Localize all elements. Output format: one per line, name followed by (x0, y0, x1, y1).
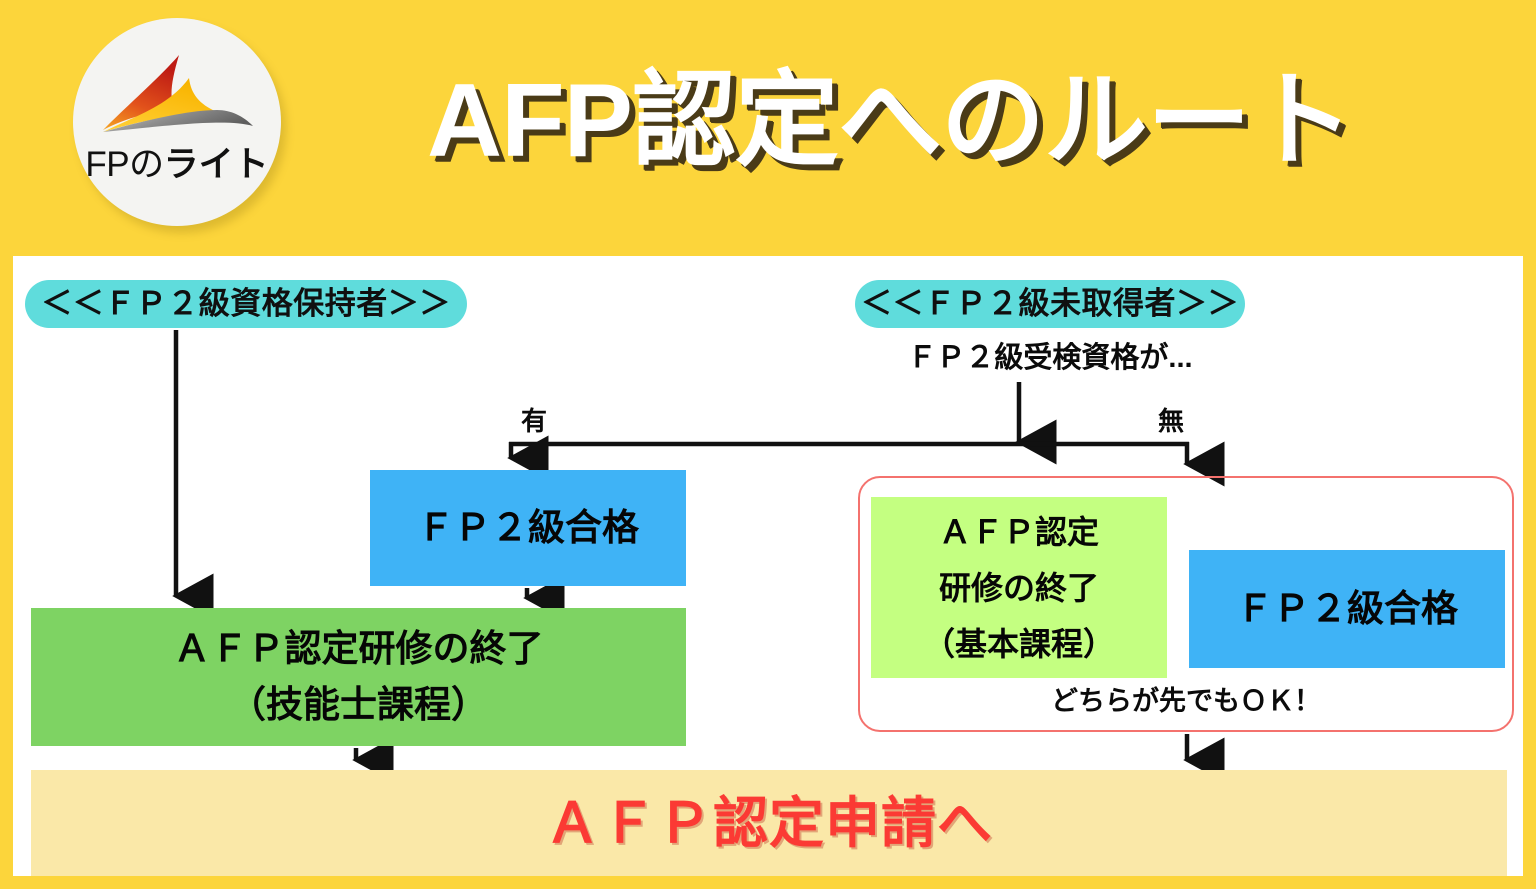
group-note-text: どちらが先でもＯＫ！ (871, 683, 1501, 719)
box-line: （技能士課程） (229, 677, 488, 733)
diagram-canvas: ＜＜ＦＰ２級資格保持者＞＞ ＜＜ＦＰ２級未取得者＞＞ ＦＰ２級受検資格が... … (13, 256, 1523, 876)
brand-logo-text-bold: ライト (164, 145, 269, 184)
footer-banner: ＡＦＰ認定申請へ (31, 770, 1507, 876)
brand-logo: FPのライト (73, 18, 281, 226)
box-line: ＡＦＰ認定 (939, 504, 1099, 560)
afp-route-poster: FPのライト AFP認定へのルート (0, 0, 1536, 889)
sub-question-text: ＦＰ２級受検資格が... (855, 338, 1245, 378)
pill-fp2-non-holder: ＜＜ＦＰ２級未取得者＞＞ (855, 280, 1245, 328)
box-line: 研修の終了 (939, 560, 1099, 616)
box-line: （基本課程） (923, 616, 1115, 672)
diagram-frame: ＜＜ＦＰ２級資格保持者＞＞ ＜＜ＦＰ２級未取得者＞＞ ＦＰ２級受検資格が... … (0, 243, 1536, 889)
page-title: AFP認定へのルート (300, 56, 1480, 186)
poster-header: FPのライト AFP認定へのルート (0, 0, 1536, 243)
pill-fp2-holder: ＜＜ＦＰ２級資格保持者＞＞ (25, 280, 467, 328)
mountain-wave-logo-icon (95, 52, 259, 144)
branch-label-yes: 有 (521, 406, 547, 436)
box-line: ＡＦＰ認定研修の終了 (174, 621, 544, 677)
box-line: ＦＰ２級合格 (417, 506, 639, 550)
box-afp-training-kihon: ＡＦＰ認定 研修の終了 （基本課程） (871, 497, 1167, 678)
box-line: ＦＰ２級合格 (1236, 587, 1458, 631)
box-fp2-pass-left: ＦＰ２級合格 (370, 470, 686, 586)
brand-logo-text-thin: FPの (85, 145, 163, 184)
box-fp2-pass-right: ＦＰ２級合格 (1189, 550, 1505, 668)
brand-logo-text: FPのライト (73, 146, 281, 184)
box-afp-training-gino: ＡＦＰ認定研修の終了 （技能士課程） (31, 608, 686, 746)
footer-banner-label: ＡＦＰ認定申請へ (545, 790, 993, 856)
branch-label-no: 無 (1158, 406, 1184, 436)
